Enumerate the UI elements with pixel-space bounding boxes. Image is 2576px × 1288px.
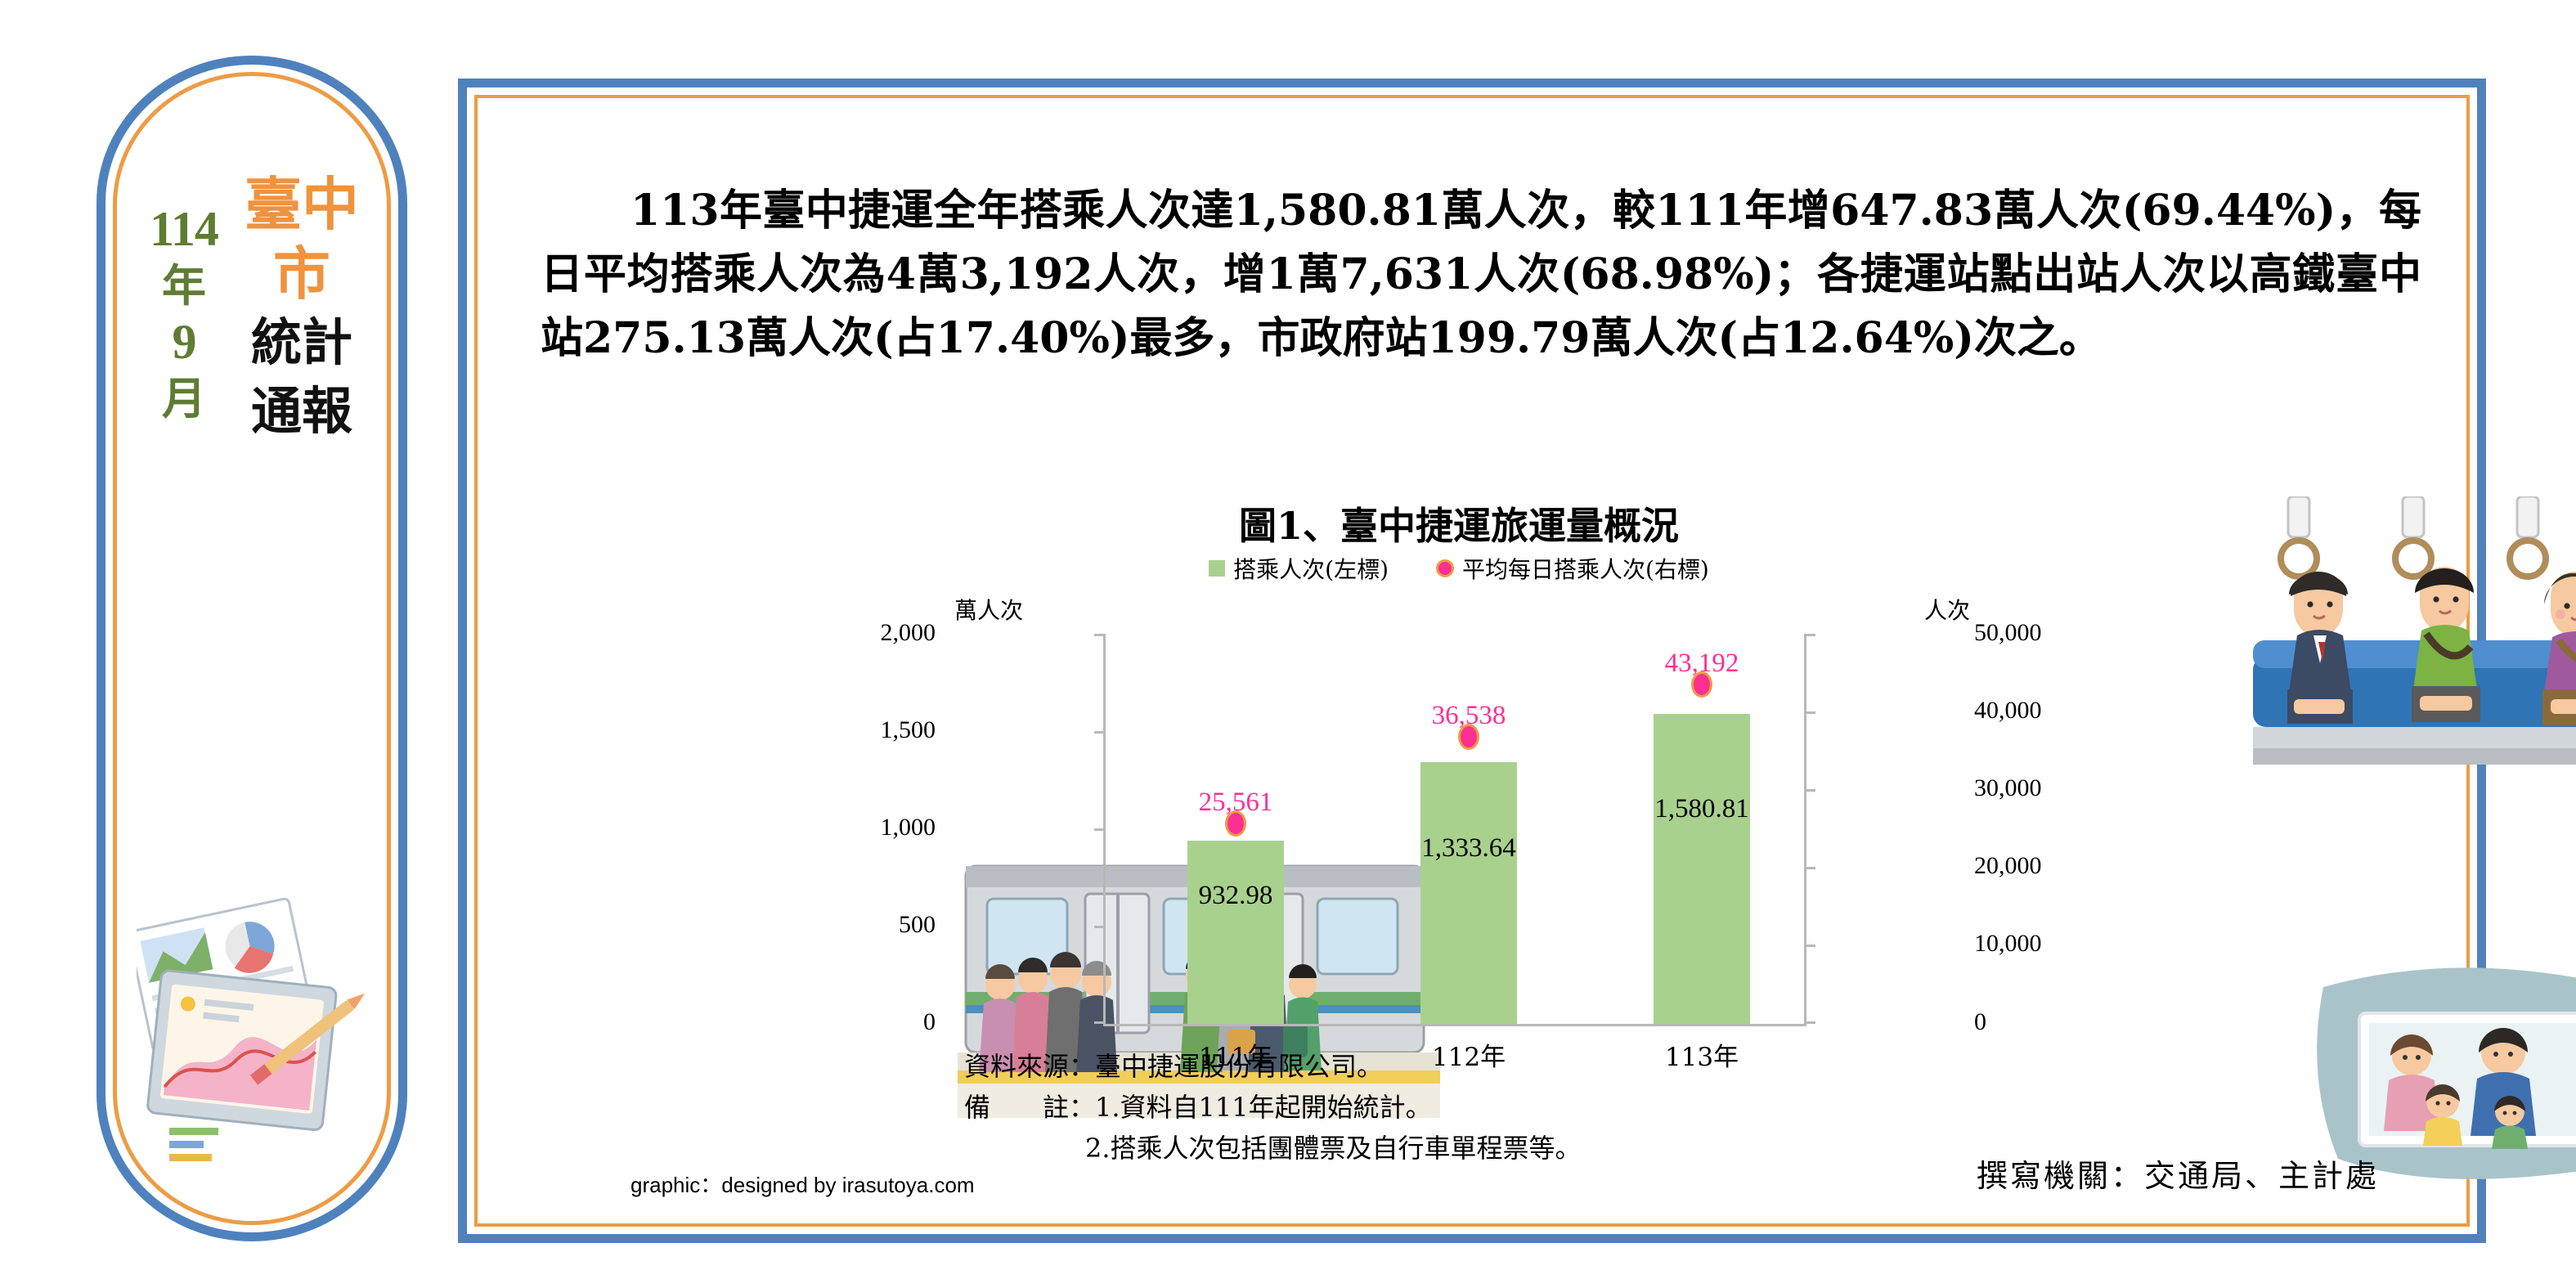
year-month-block: 114 年 9 月 bbox=[132, 204, 236, 429]
publication-title-series: 統計通報 bbox=[240, 308, 363, 446]
left-tickmark-0 bbox=[1094, 1021, 1106, 1024]
bar-value-112: 1,333.64 bbox=[1375, 833, 1563, 864]
dot-value-112: 36,538 bbox=[1375, 701, 1563, 731]
summary-paragraph: 113年臺中捷運全年搭乘人次達1,580.81萬人次，較111年增647.83萬… bbox=[541, 179, 2421, 370]
right-tickmark-0 bbox=[1804, 1021, 1815, 1024]
right-tickmark-30000 bbox=[1804, 789, 1815, 792]
year-number: 114 bbox=[132, 204, 236, 254]
left-tickmark-500 bbox=[1094, 926, 1106, 928]
publication-title-city: 臺中市 bbox=[240, 169, 363, 308]
legend-bar-label: 搭乘人次(左標) bbox=[1233, 552, 1389, 585]
right-tickmark-20000 bbox=[1804, 867, 1815, 869]
left-tickmark-1000 bbox=[1094, 828, 1106, 831]
legend-item-bar: 搭乘人次(左標) bbox=[1209, 552, 1389, 585]
chart-notes: 資料來源：臺中捷運股份有限公司。 備 註：1.資料自111年起開始統計。 2.搭… bbox=[964, 1046, 1945, 1169]
legend-scatter-label: 平均每日搭乘人次(右標) bbox=[1462, 552, 1709, 585]
bar-111[interactable] bbox=[1187, 841, 1284, 1024]
publication-title-vertical: 臺中市 統計通報 bbox=[240, 169, 363, 446]
right-tickmark-40000 bbox=[1804, 711, 1815, 714]
month-char: 月 bbox=[132, 367, 236, 429]
notes-label: 備 註： bbox=[964, 1092, 1095, 1123]
chart-source: 資料來源：臺中捷運股份有限公司。 bbox=[964, 1046, 1945, 1087]
month-number: 9 bbox=[132, 316, 236, 367]
right-axis-unit: 人次 bbox=[1924, 593, 1970, 626]
right-tick-10000: 10,000 bbox=[1974, 930, 2129, 958]
chart-note-1-row: 備 註：1.資料自111年起開始統計。 bbox=[964, 1087, 1945, 1128]
seated-passengers-illustration bbox=[2242, 496, 2576, 791]
right-tick-20000: 20,000 bbox=[1974, 852, 2129, 880]
left-cover-panel: 114 年 9 月 臺中市 統計通報 bbox=[96, 56, 407, 1241]
right-tick-0: 0 bbox=[1974, 1008, 2129, 1036]
left-tickmark-2000 bbox=[1094, 634, 1106, 636]
legend-dot-swatch-icon bbox=[1436, 559, 1454, 577]
legend-item-scatter: 平均每日搭乘人次(右標) bbox=[1436, 552, 1709, 585]
left-axis-unit: 萬人次 bbox=[954, 593, 1023, 626]
right-tickmark-10000 bbox=[1804, 945, 1815, 947]
left-tick-500: 500 bbox=[797, 911, 936, 939]
right-tick-30000: 30,000 bbox=[1974, 774, 2129, 802]
authoring-agency: 撰寫機關：交通局、主計處 bbox=[1977, 1151, 2379, 1196]
legend-bar-swatch-icon bbox=[1209, 560, 1225, 577]
dot-value-111: 25,561 bbox=[1142, 788, 1330, 818]
dot-value-113: 43,192 bbox=[1608, 648, 1796, 679]
bar-112[interactable] bbox=[1420, 762, 1517, 1024]
right-tick-50000: 50,000 bbox=[1974, 619, 2129, 647]
main-content-panel: 113年臺中捷運全年搭乘人次達1,580.81萬人次，較111年增647.83萬… bbox=[458, 79, 2486, 1243]
right-tick-40000: 40,000 bbox=[1974, 697, 2129, 725]
chart-plot-area: 2,000 1,500 1,000 500 0 50,000 40,000 30… bbox=[1103, 634, 1806, 1026]
left-tick-1500: 1,500 bbox=[797, 716, 936, 744]
bar-113[interactable] bbox=[1654, 714, 1750, 1024]
chart-note-2: 2.搭乘人次包括團體票及自行車單程票等。 bbox=[964, 1128, 1945, 1169]
chart-title: 圖1、臺中捷運旅運量概況 bbox=[948, 496, 1970, 550]
left-tick-0: 0 bbox=[797, 1008, 936, 1036]
bar-value-113: 1,580.81 bbox=[1608, 794, 1796, 824]
chart-legend: 搭乘人次(左標) 平均每日搭乘人次(右標) bbox=[948, 552, 1970, 585]
graphic-credit: graphic：designed by irasutoya.com bbox=[631, 1169, 975, 1199]
chart-figure: 圖1、臺中捷運旅運量概況 搭乘人次(左標) 平均每日搭乘人次(右標) 萬人次 人… bbox=[948, 496, 1970, 1142]
left-tickmark-1500 bbox=[1094, 731, 1106, 734]
left-tick-1000: 1,000 bbox=[797, 814, 936, 841]
right-tickmark-50000 bbox=[1804, 634, 1815, 636]
bar-value-111: 932.98 bbox=[1142, 881, 1330, 911]
statistics-documents-illustration bbox=[137, 882, 382, 1177]
year-char: 年 bbox=[132, 254, 236, 316]
chart-note-1: 1.資料自111年起開始統計。 bbox=[1095, 1092, 1432, 1123]
left-tick-2000: 2,000 bbox=[797, 619, 936, 647]
